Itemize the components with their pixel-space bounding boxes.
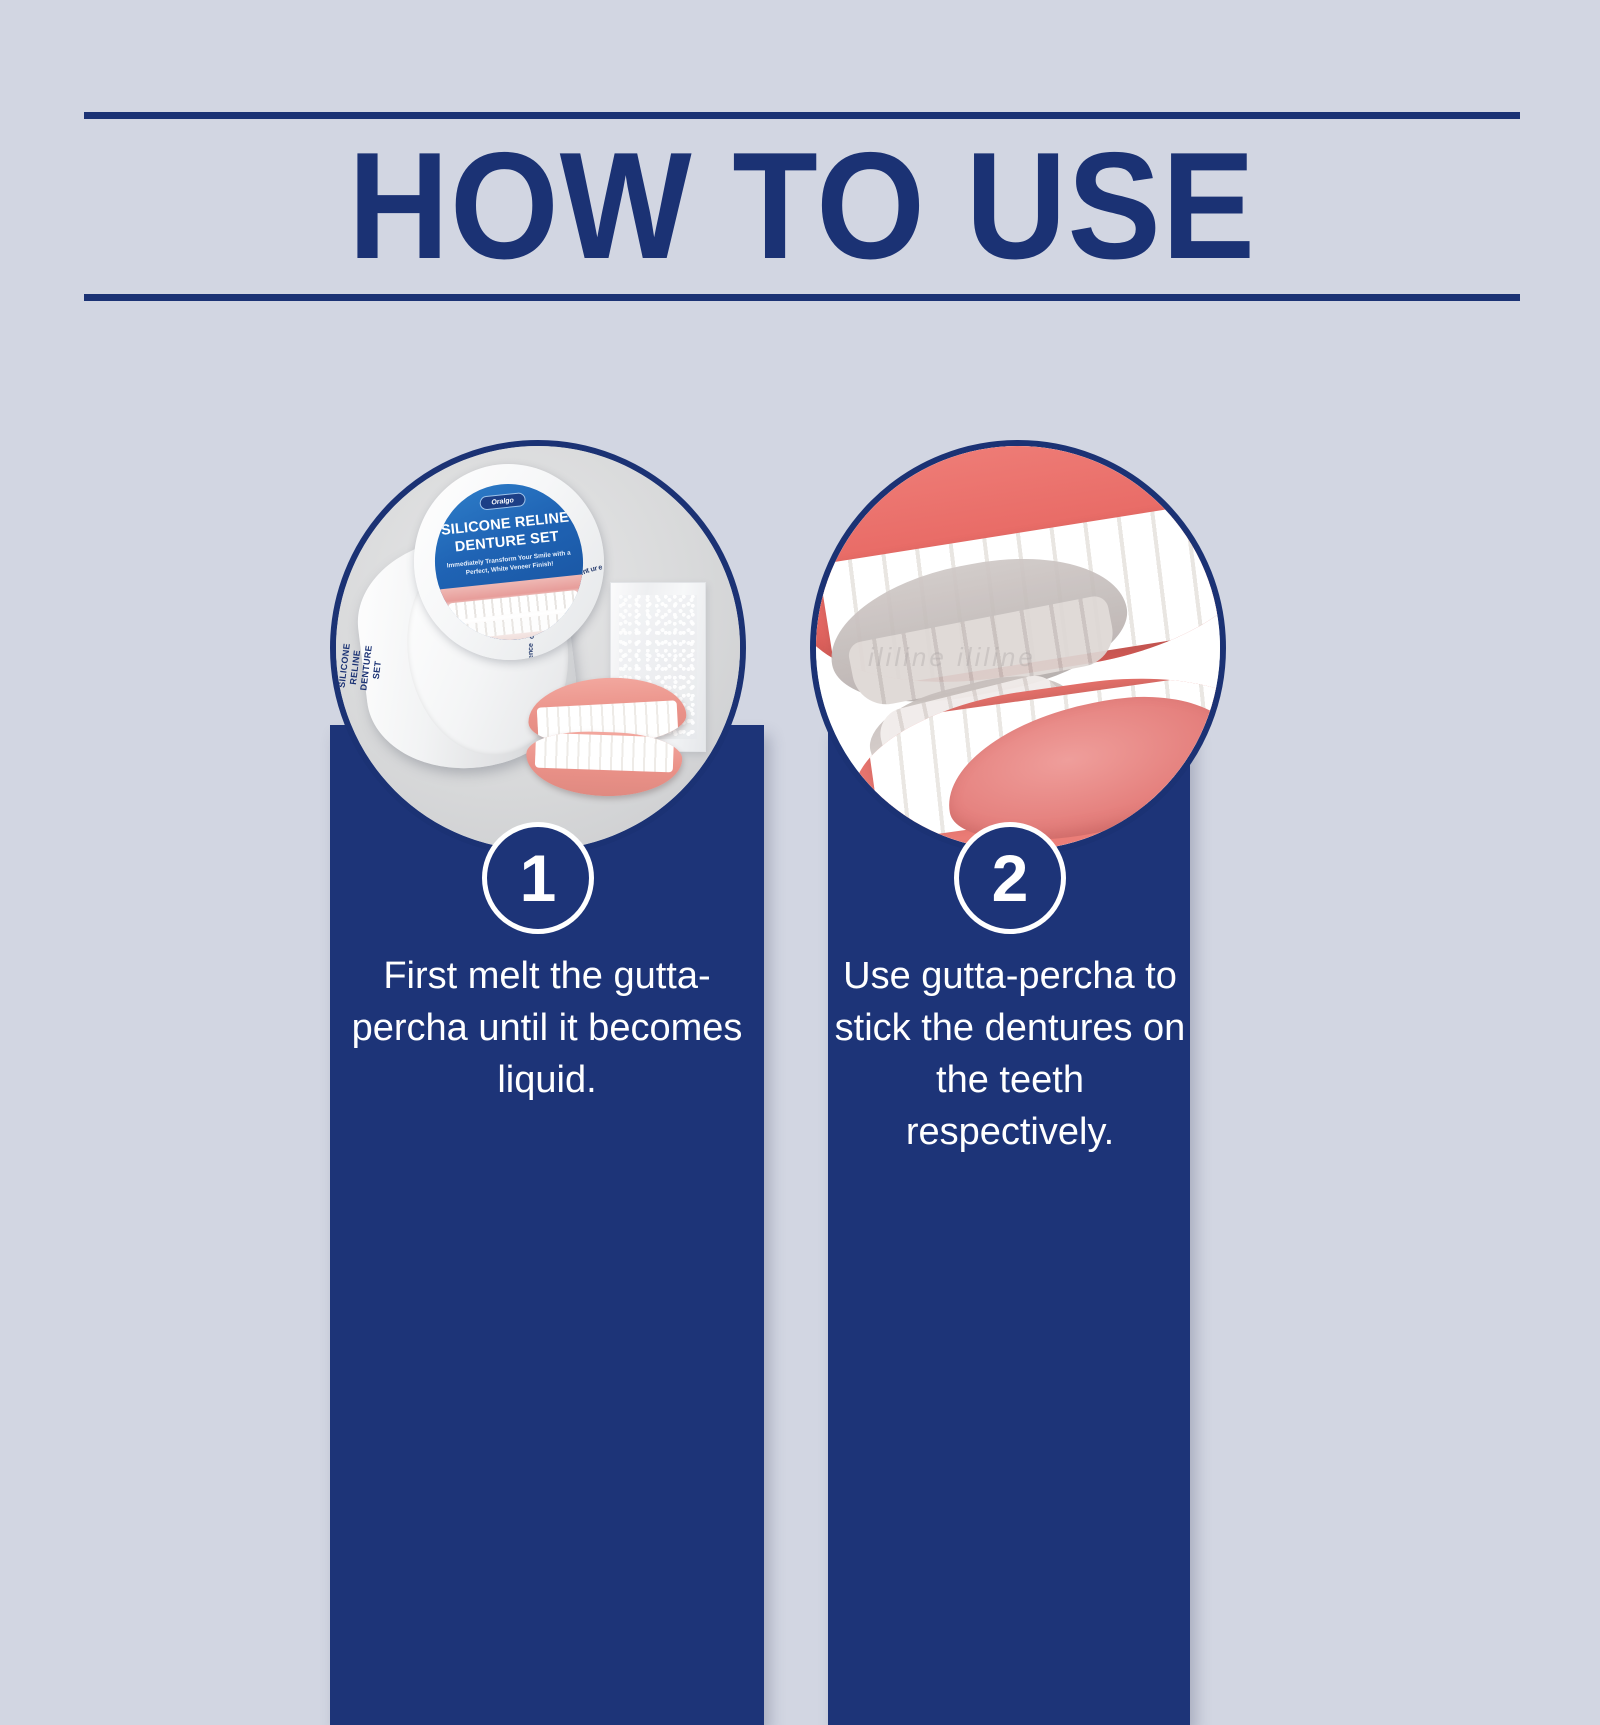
step-1-caption: First melt the gutta-percha until it bec… [344,950,750,1106]
step-2-caption: Use gutta-percha to stick the dentures o… [832,950,1188,1158]
step-2-image: ililine ililine [810,440,1226,856]
step-2-number-badge: 2 [954,822,1066,934]
denture-kit-photo: SILICONE RELINE DENTURE SET Convenienceo… [336,446,740,850]
brand-logo: Oralgo [479,492,526,511]
lower-denture-teeth [535,732,673,773]
open-mouth-teeth-photo: ililine ililine [816,446,1220,850]
poster-root: HOW TO USE SILICONE RELINE DENTURE SET C… [0,0,1600,1600]
step-1-image: SILICONE RELINE DENTURE SET Convenienceo… [330,440,746,856]
step-1-number-badge: 1 [482,822,594,934]
lower-denture-icon [525,729,683,798]
steps-container: SILICONE RELINE DENTURE SET Convenienceo… [0,0,1600,1600]
